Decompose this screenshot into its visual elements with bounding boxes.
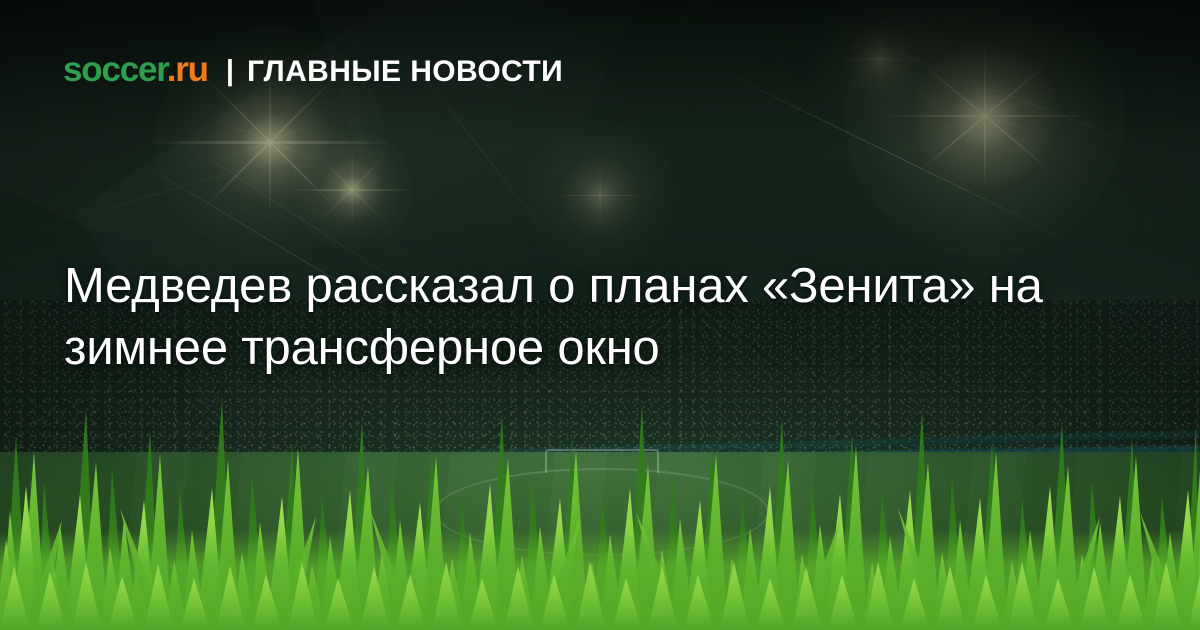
foreground-grass	[0, 390, 1200, 630]
page-title: Медведев рассказал о планах «Зенита» на …	[64, 255, 1124, 379]
header-separator: |	[226, 57, 234, 86]
logo-name-text: soccer	[63, 50, 167, 89]
soccer-ru-logo[interactable]: soccer.ru	[63, 52, 208, 87]
news-share-card: soccer.ru | ГЛАВНЫЕ НОВОСТИ Медведев рас…	[0, 0, 1200, 630]
header-kicker-label: ГЛАВНЫЕ НОВОСТИ	[247, 57, 563, 87]
site-header: soccer.ru | ГЛАВНЫЕ НОВОСТИ	[63, 52, 563, 87]
logo-tld-text: .ru	[167, 50, 208, 89]
